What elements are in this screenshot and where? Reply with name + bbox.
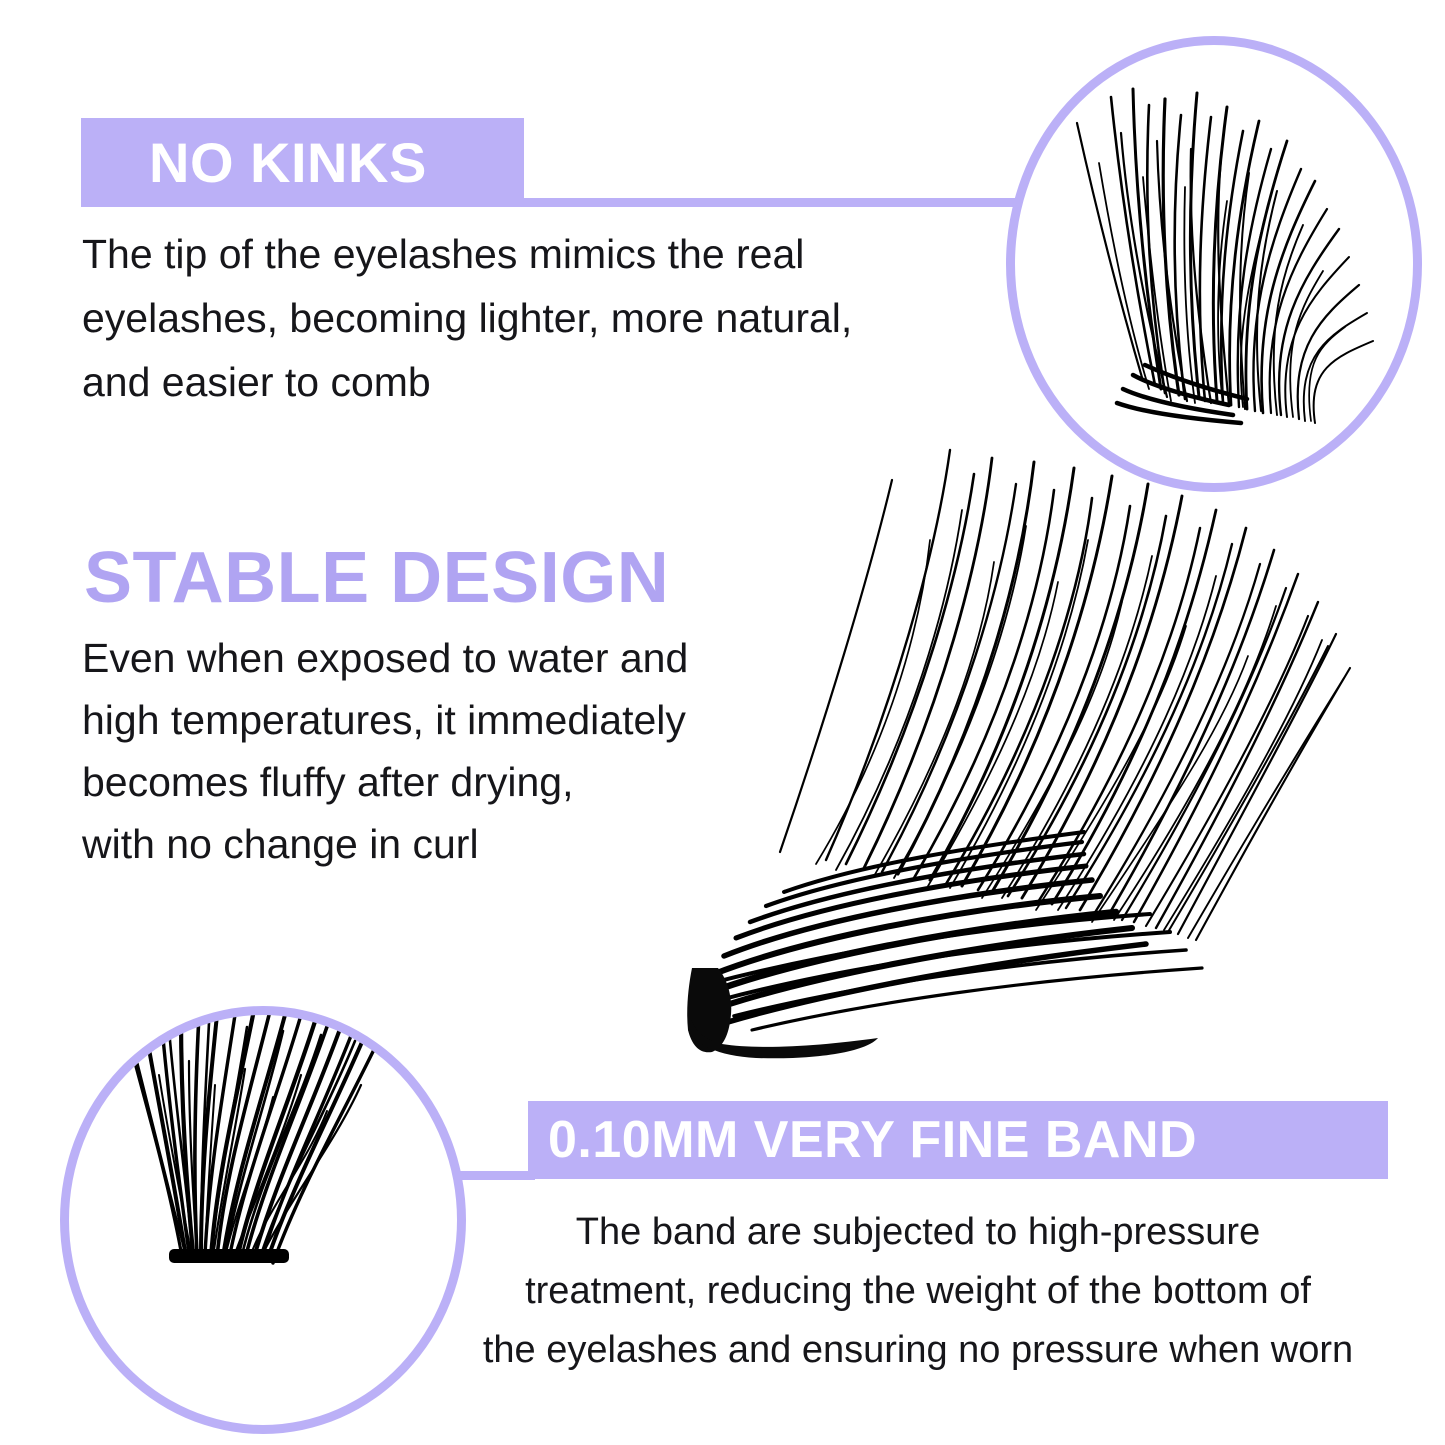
lash-band-strip: [169, 1249, 289, 1263]
product-feature-infographic: NO KINKS The tip of the eyelashes mimics…: [0, 0, 1445, 1445]
lash-tips-closeup-icon: [1015, 45, 1395, 465]
heading-stable-design: STABLE DESIGN: [84, 537, 669, 619]
false-eyelash-strip-image: [630, 440, 1360, 1060]
heading-fine-band: 0.10MM VERY FINE BAND: [528, 1101, 1388, 1179]
lash-band-closeup-icon: [69, 1015, 439, 1407]
callout-circle-lash-tips: [1006, 36, 1422, 492]
body-text-no-kinks: The tip of the eyelashes mimics the real…: [82, 222, 942, 414]
heading-no-kinks: NO KINKS: [81, 118, 524, 207]
callout-circle-lash-band: [60, 1006, 466, 1434]
connector-line-no-kinks: [524, 198, 1016, 207]
body-text-fine-band: The band are subjected to high-pressure …: [418, 1203, 1418, 1380]
